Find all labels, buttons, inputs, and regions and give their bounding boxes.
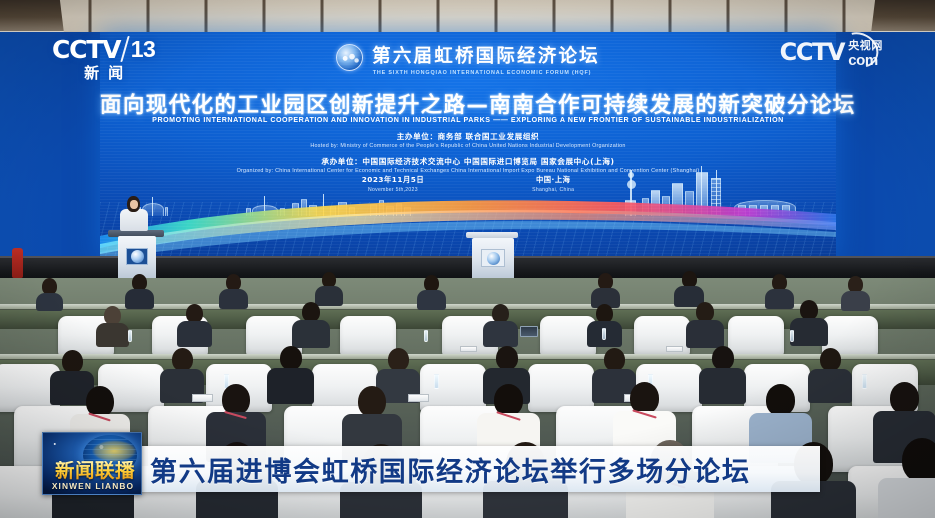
led-wall: 第六届虹桥国际经济论坛 THE SIXTH HONGQIAO INTERNATI… xyxy=(100,32,836,260)
water-bottle xyxy=(790,330,794,342)
chair xyxy=(528,364,594,412)
water-bottle xyxy=(602,328,606,340)
watermark-com: com xyxy=(848,53,883,68)
program-name-en: XINWEN LIANBO xyxy=(43,481,142,491)
water-bottle xyxy=(862,374,867,389)
water-bottle xyxy=(434,374,439,389)
name-plate xyxy=(408,394,429,402)
event-date-cn: 2023年11月5日 xyxy=(362,175,424,185)
cctv-wordmark: CCTV xyxy=(52,37,120,62)
center-podium-emblem-plaque xyxy=(481,249,505,267)
name-plate xyxy=(192,394,213,402)
news-headline: 第六届进博会虹桥国际经济论坛举行多场分论坛 xyxy=(150,450,751,489)
event-place-en: Shanghai, China xyxy=(532,187,574,193)
forum-title-cn: 第六届虹桥国际经济论坛 xyxy=(372,48,600,67)
event-place: 中国·上海 Shanghai, China xyxy=(532,175,574,193)
session-title-en: PROMOTING INTERNATIONAL COOPERATION AND … xyxy=(100,116,836,124)
channel-number: 13 xyxy=(131,38,156,61)
water-bottle xyxy=(424,330,428,342)
laptop xyxy=(520,326,538,337)
fire-extinguisher xyxy=(12,248,23,278)
chair xyxy=(420,364,486,412)
channel-logo-row: CCTV 13 xyxy=(52,36,155,62)
event-date: 2023年11月5日 November 5th,2023 xyxy=(362,175,424,193)
lower-third-banner: 第六届进博会虹桥国际经济论坛举行多场分论坛 xyxy=(136,446,820,492)
channel-name-cn: 新闻 xyxy=(52,66,155,81)
watermark-right-block: 央视网 com xyxy=(848,40,883,68)
hqf-globe-emblem-icon xyxy=(336,44,363,71)
date-place-row: 2023年11月5日 November 5th,2023 中国·上海 Shang… xyxy=(100,175,836,193)
cctv-slash-divider-icon xyxy=(121,36,131,62)
program-logo-badge: 新闻联播 XINWEN LIANBO xyxy=(42,432,142,495)
chair xyxy=(728,316,784,356)
event-place-cn: 中国·上海 xyxy=(532,175,574,185)
watermark-cctv-cn: 央视网 xyxy=(848,40,883,51)
hosted-by-en: Hosted by: Ministry of Commerce of the P… xyxy=(100,143,836,149)
water-bottle xyxy=(128,330,132,342)
cctv-com-watermark: CCTV 央视网 com xyxy=(780,40,883,68)
chair xyxy=(340,316,396,356)
organized-by-cn: 承办单位：中国国际经济技术交流中心 中国国际进口博览局 国家会展中心(上海) xyxy=(100,156,836,167)
stage-light-right xyxy=(871,0,935,34)
organizer-credits: 主办单位：商务部 联合国工业发展组织 Hosted by: Ministry o… xyxy=(100,131,836,181)
organized-by-en: Organized by: China International Center… xyxy=(100,168,836,174)
stage-light-left xyxy=(0,0,64,34)
left-podium-emblem-plaque xyxy=(126,248,148,265)
speaker-face xyxy=(130,200,138,209)
forum-title-en: THE SIXTH HONGQIAO INTERNATIONAL ECONOMI… xyxy=(100,70,836,76)
event-date-en: November 5th,2023 xyxy=(362,187,424,193)
forum-identity-row: 第六届虹桥国际经济论坛 xyxy=(100,44,836,71)
name-plate xyxy=(460,346,477,352)
podium-globe-icon xyxy=(131,250,144,263)
hosted-by-cn: 主办单位：商务部 联合国工业发展组织 xyxy=(100,131,836,142)
name-plate xyxy=(666,346,683,352)
broadcast-frame: 第六届虹桥国际经济论坛 THE SIXTH HONGQIAO INTERNATI… xyxy=(0,0,935,518)
program-name-cn: 新闻联播 xyxy=(47,461,142,481)
channel-logo-bug: CCTV 13 新闻 xyxy=(52,36,155,81)
session-title-cn: 面向现代化的工业园区创新提升之路—南南合作可持续发展的新突破分论坛 xyxy=(100,88,836,119)
center-podium-globe-icon xyxy=(487,252,500,265)
watermark-cctv-wordmark: CCTV xyxy=(780,40,845,64)
speaker-body xyxy=(120,209,148,231)
